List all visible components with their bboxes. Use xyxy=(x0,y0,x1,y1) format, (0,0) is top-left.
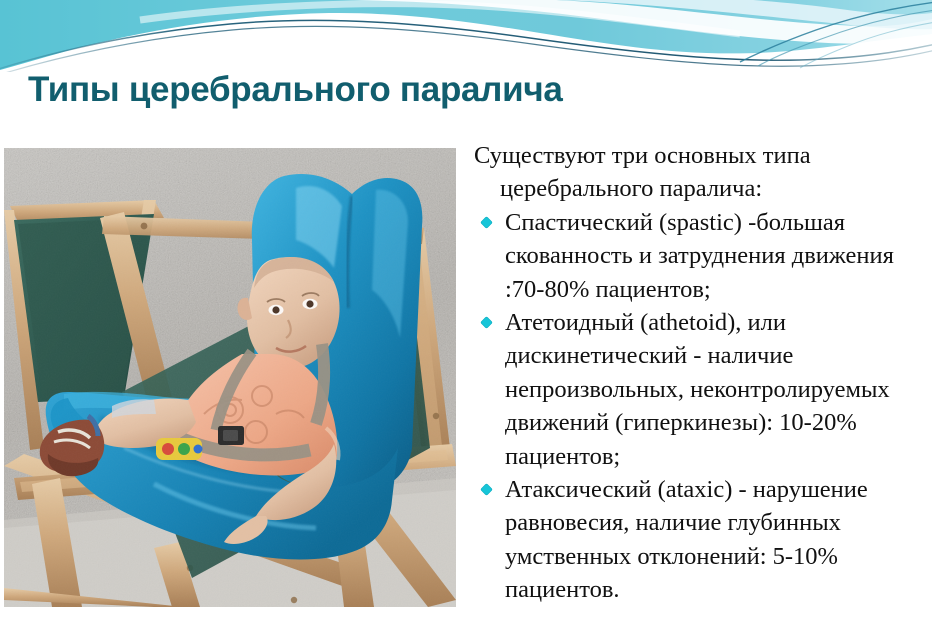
intro-line-1: Существуют три основных типа xyxy=(474,142,811,169)
bullet-3-line-2: равновесия, наличие глубинных xyxy=(505,506,932,539)
bullet-3-line-1: Атаксический (ataxic) - нарушение xyxy=(505,473,932,506)
bullet-3-line-3: умственных отклонений: 5-10% xyxy=(505,540,932,573)
bullet-1-line-3: :70-80% пациентов; xyxy=(505,273,932,306)
list-item: Спастический (spastic) -большая скованно… xyxy=(474,206,932,306)
bullet-3-line-4: пациентов. xyxy=(505,573,932,606)
bullet-2-line-5: пациентов; xyxy=(505,440,932,473)
bullet-2-line-2: дискинетический - наличие xyxy=(505,339,932,372)
bullet-2-line-1: Атетоидный (athetoid), или xyxy=(505,306,932,339)
slide-body-text: Существуют три основных типа церебрально… xyxy=(474,139,932,607)
intro-paragraph: Существуют три основных типа церебрально… xyxy=(474,139,932,206)
list-item: Атетоидный (athetoid), или дискинетическ… xyxy=(474,306,932,473)
slide-photo xyxy=(4,148,456,607)
bullet-1-line-1: Спастический (spastic) -большая xyxy=(505,206,932,239)
bullet-2-line-4: движений (гиперкинезы): 10-20% xyxy=(505,406,932,439)
presentation-slide: Типы церебрального паралича xyxy=(0,0,932,641)
diamond-bullet-icon xyxy=(480,483,493,496)
decorative-wave-band xyxy=(0,0,932,72)
bullet-1-line-2: скованность и затруднения движения xyxy=(505,239,932,272)
list-item: Атаксический (ataxic) - нарушение равнов… xyxy=(474,473,932,607)
diamond-bullet-icon xyxy=(480,216,493,229)
page-title: Типы церебрального паралича xyxy=(28,70,668,110)
intro-line-2: церебрального паралича: xyxy=(474,172,932,205)
diamond-bullet-icon xyxy=(480,316,493,329)
bullet-2-line-3: непроизвольных, неконтролируемых xyxy=(505,373,932,406)
